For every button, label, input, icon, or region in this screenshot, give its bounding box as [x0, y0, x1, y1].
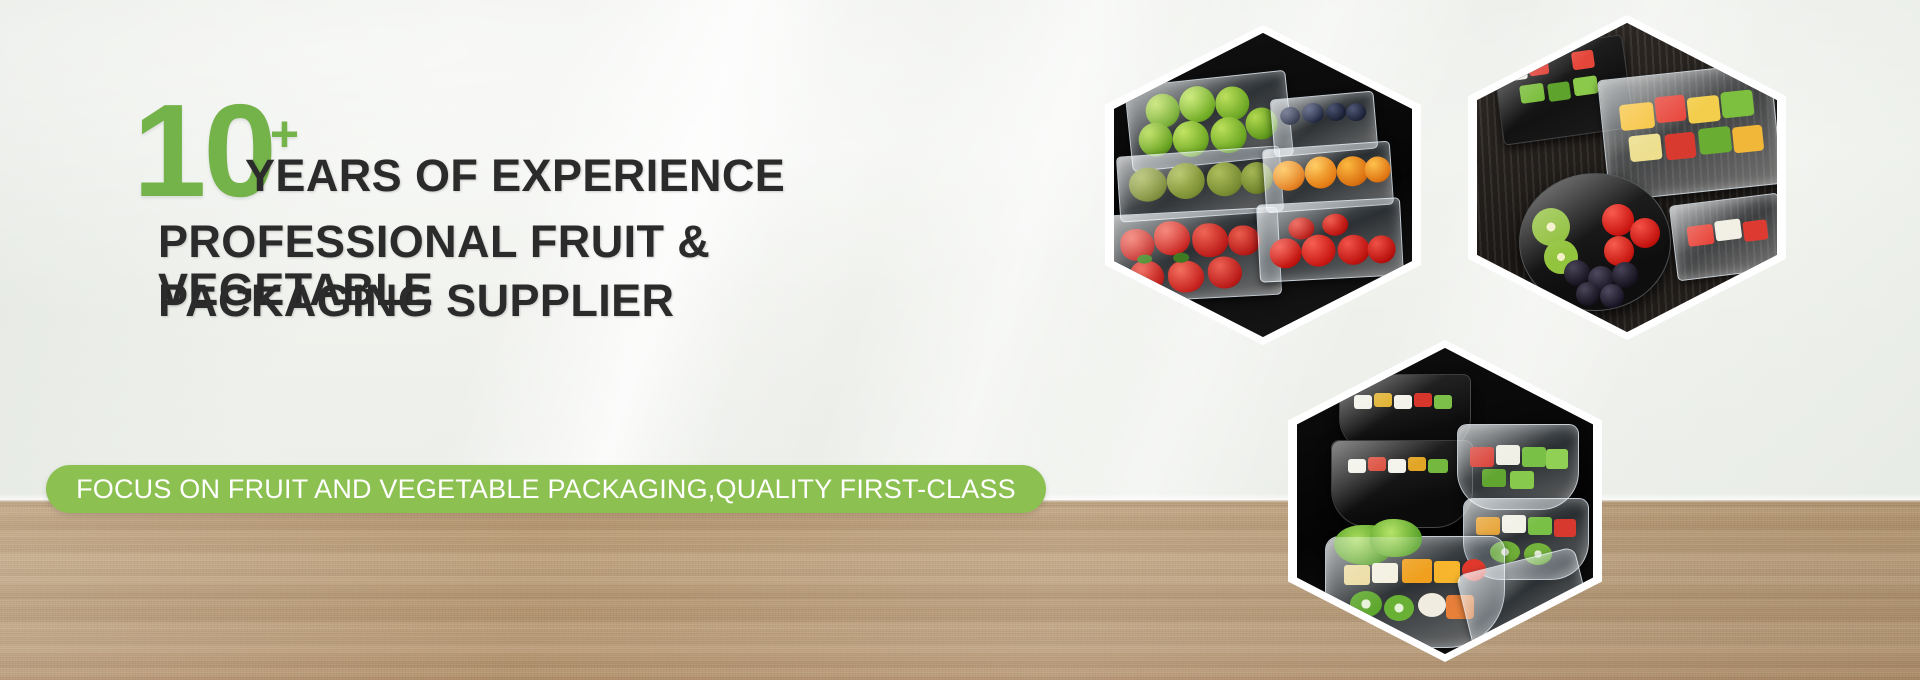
banner-root: 10+ YEARS OF EXPERIENCE PROFESSIONAL FRU… — [0, 0, 1920, 680]
tagline-pill: FOCUS ON FRUIT AND VEGETABLE PACKAGING,Q… — [46, 465, 1046, 513]
headline-line-3: PACKAGING SUPPLIER — [158, 277, 674, 325]
hex2-side-tray — [1669, 193, 1777, 282]
tagline-text: FOCUS ON FRUIT AND VEGETABLE PACKAGING,Q… — [76, 474, 1016, 505]
hex2-round-bowl — [1519, 173, 1671, 311]
hex1-photo — [1114, 33, 1412, 337]
hex3-photo — [1297, 348, 1593, 654]
hex2-photo — [1477, 23, 1777, 332]
wooden-table-surface — [0, 500, 1920, 680]
headline-line-experience: YEARS OF EXPERIENCE — [245, 152, 785, 200]
headline-block: 10+ YEARS OF EXPERIENCE PROFESSIONAL FRU… — [0, 0, 900, 502]
hex3-black-bowl-2 — [1331, 440, 1473, 528]
hex1-cherry-tomato-tray — [1256, 197, 1404, 282]
